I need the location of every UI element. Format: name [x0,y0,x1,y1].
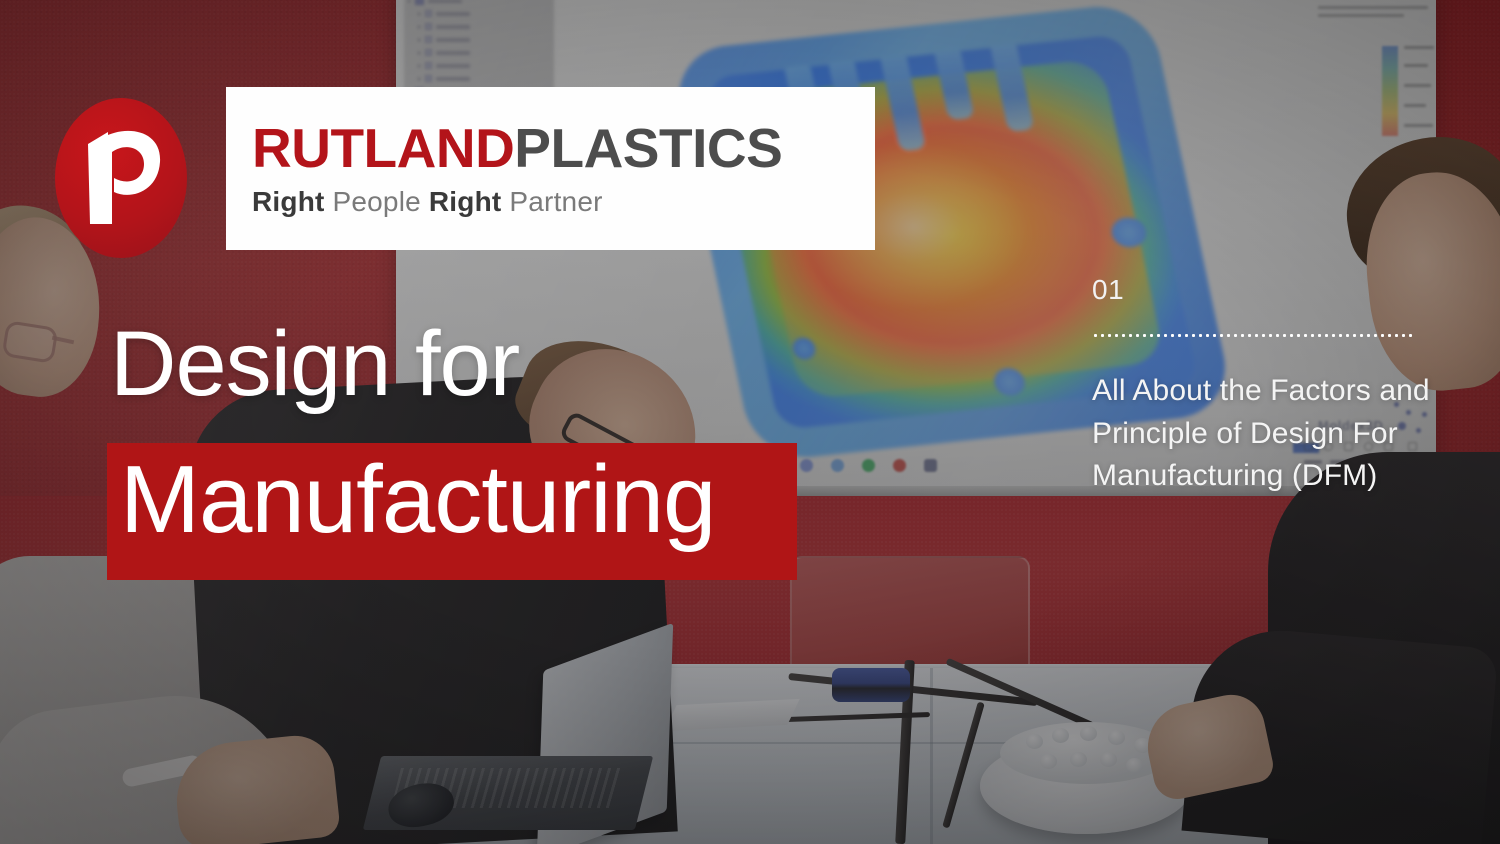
logo-wordmark-box[interactable]: RUTLANDPLASTICS Right People Right Partn… [226,87,875,250]
page-subtitle: All About the Factors and Principle of D… [1092,370,1432,498]
pouch-icon [832,668,910,702]
rutland-plastics-rp-monogram-icon[interactable] [55,98,187,258]
page-title-line-1: Design for [110,318,519,410]
tagline-right-1: Right [252,186,325,217]
section-number: 01 [1092,276,1124,304]
page-title-line-2: Manufacturing [120,452,715,548]
colorbar-tick-labels [1404,44,1442,138]
logo-tagline: Right People Right Partner [252,188,875,216]
logo-word-rutland: RUTLAND [252,117,514,179]
logo-wordmark: RUTLANDPLASTICS [252,121,875,176]
rainbow-colorbar-icon [1382,46,1398,136]
dotted-rule-divider [1092,333,1412,338]
logo-word-plastics: PLASTICS [514,117,782,179]
tagline-people: People [325,186,429,217]
software-toolbar-icon [800,452,1000,478]
cad-tree-panel-icon [404,0,554,99]
projection-header-text [1318,4,1438,22]
slide-canvas: Moldex3D [0,0,1500,844]
tagline-partner: Partner [501,186,602,217]
tagline-right-2: Right [429,186,502,217]
